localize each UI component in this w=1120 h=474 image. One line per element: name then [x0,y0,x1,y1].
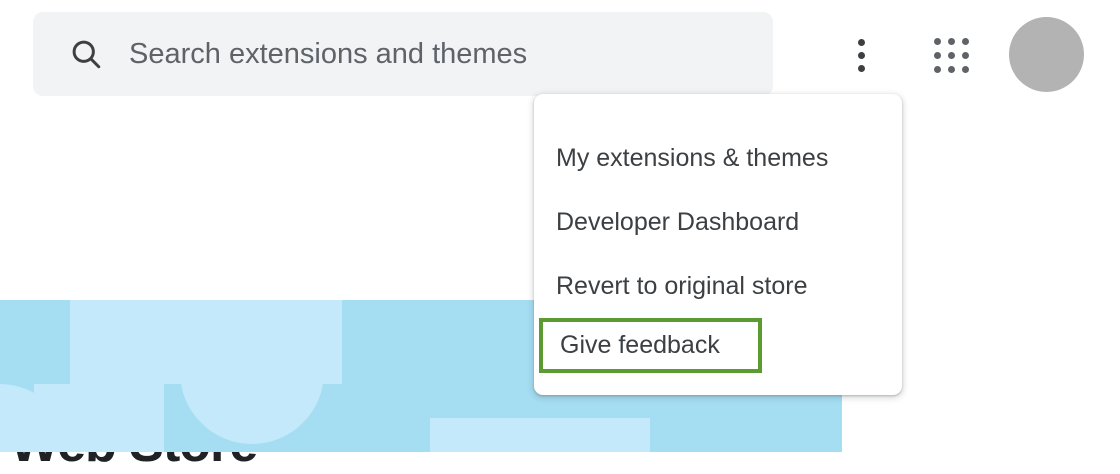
avatar[interactable] [1009,17,1084,92]
menu-item-my-extensions-and-themes[interactable]: My extensions & themes [534,126,902,190]
top-bar: Search extensions and themes [0,0,1120,108]
hero-decoration-rect-mid [34,384,164,452]
apps-grid-icon-dot-7 [934,66,941,73]
page-root: Web Store Search extensions and themes [0,0,1120,452]
apps-grid-icon-dot-9 [962,66,969,73]
menu-item-give-feedback[interactable]: Give feedback [539,318,762,373]
apps-grid-button[interactable] [927,31,975,79]
apps-grid-icon-dot-6 [962,52,969,59]
more-vert-icon-dot-1 [858,39,865,46]
more-vert-icon-dot-3 [858,65,865,72]
apps-grid-icon-dot-4 [934,52,941,59]
apps-grid-icon-dot-2 [948,38,955,45]
more-vert-icon-dot-2 [858,52,865,59]
apps-grid-icon-dot-8 [948,66,955,73]
menu-item-developer-dashboard[interactable]: Developer Dashboard [534,190,902,254]
menu-item-revert-to-original-store[interactable]: Revert to original store [534,254,902,318]
hero-decoration-u-shape [180,300,324,444]
search-input-placeholder: Search extensions and themes [129,40,527,69]
more-vert-button[interactable] [837,31,885,79]
hero-decoration-rect-low [430,418,650,452]
apps-grid-icon-dot-5 [948,52,955,59]
search-bar[interactable]: Search extensions and themes [33,12,773,96]
search-icon [69,37,103,71]
overflow-dropdown-menu: My extensions & themes Developer Dashboa… [534,94,902,395]
apps-grid-icon-dot-1 [934,38,941,45]
apps-grid-icon-dot-3 [962,38,969,45]
